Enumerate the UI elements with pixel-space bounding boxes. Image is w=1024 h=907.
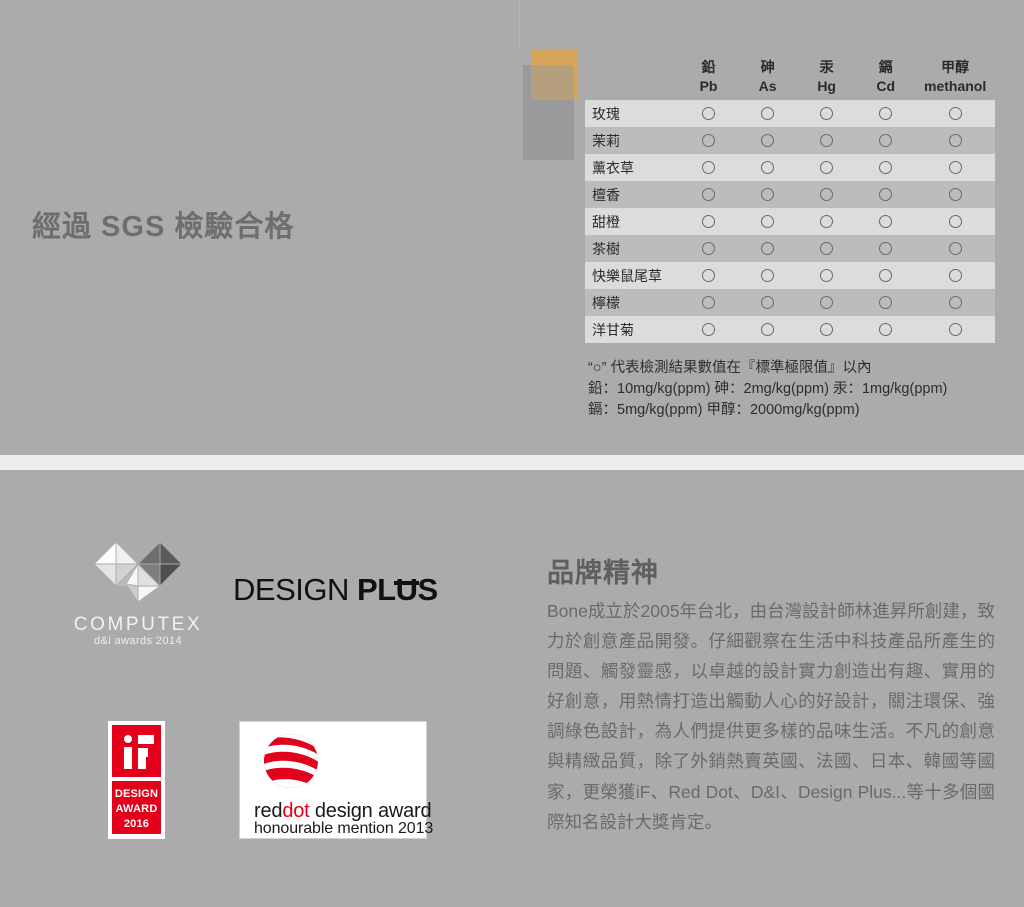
pass-circle-icon: [761, 242, 774, 255]
pass-circle-icon: [879, 134, 892, 147]
pass-circle-icon: [820, 134, 833, 147]
pass-circle-icon: [761, 134, 774, 147]
reddot-word-dot: dot: [282, 800, 309, 822]
brand-spirit-body: Bone成立於2005年台北，由台灣設計師林進昇所創建，致力於創意產品開發。仔細…: [547, 596, 995, 837]
table-cell-pass-mark: [915, 269, 995, 282]
if-i-dot-icon: [124, 735, 132, 743]
design-plus-crossbar: [394, 581, 420, 585]
column-header-cd-cn: 鎘: [856, 58, 915, 77]
table-cell-pass-mark: [915, 323, 995, 336]
pass-circle-icon: [702, 323, 715, 336]
table-cell-pass-mark: [856, 107, 915, 120]
if-caption-line-2: AWARD: [112, 802, 161, 817]
pass-circle-icon: [949, 242, 962, 255]
table-cell-pass-mark: [915, 296, 995, 309]
table-cell-pass-mark: [679, 134, 738, 147]
design-plus-part-design: DESIGN: [233, 572, 357, 607]
column-header-as-cn: 砷: [738, 58, 797, 77]
pass-circle-icon: [702, 269, 715, 282]
pass-circle-icon: [879, 161, 892, 174]
if-design-award-logo: DESIGN AWARD 2016: [108, 721, 165, 839]
table-cell-pass-mark: [738, 134, 797, 147]
computex-di-awards-logo: COMPUTEX d&i awards 2014: [68, 532, 208, 647]
if-f-top-bar-icon: [138, 735, 154, 744]
table-cell-pass-mark: [797, 188, 856, 201]
table-row-label: 茉莉: [585, 131, 679, 151]
column-header-methanol: 甲醇 methanol: [915, 58, 995, 96]
pass-circle-icon: [820, 215, 833, 228]
table-cell-pass-mark: [797, 107, 856, 120]
pass-circle-icon: [949, 269, 962, 282]
table-cell-pass-mark: [797, 161, 856, 174]
column-header-hg: 汞 Hg: [797, 58, 856, 96]
column-header-as-en: As: [738, 77, 797, 96]
table-cell-pass-mark: [915, 242, 995, 255]
table-cell-pass-mark: [856, 242, 915, 255]
design-plus-wordmark: DESIGN PLUS: [233, 572, 433, 608]
pass-circle-icon: [702, 161, 715, 174]
pass-circle-icon: [949, 188, 962, 201]
reddot-word-rest: design award: [310, 800, 432, 822]
table-cell-pass-mark: [679, 323, 738, 336]
pass-circle-icon: [820, 296, 833, 309]
sgs-footnotes: “○” 代表檢測結果數值在『標準極限值』以內 鉛：10mg/kg(ppm) 砷：…: [588, 358, 1008, 421]
table-row: 洋甘菊: [585, 316, 995, 343]
column-header-pb: 鉛 Pb: [679, 58, 738, 96]
pass-circle-icon: [761, 296, 774, 309]
table-cell-pass-mark: [797, 269, 856, 282]
table-cell-pass-mark: [915, 215, 995, 228]
table-cell-pass-mark: [797, 323, 856, 336]
column-header-pb-cn: 鉛: [679, 58, 738, 77]
table-row-label: 檸檬: [585, 293, 679, 313]
table-body: 玫瑰茉莉薰衣草檀香甜橙茶樹快樂鼠尾草檸檬洋甘菊: [585, 100, 995, 343]
table-cell-pass-mark: [856, 134, 915, 147]
pass-circle-icon: [761, 323, 774, 336]
table-cell-pass-mark: [797, 296, 856, 309]
table-cell-pass-mark: [915, 134, 995, 147]
reddot-word-red: red: [254, 800, 282, 822]
table-row-label: 玫瑰: [585, 104, 679, 124]
pass-circle-icon: [879, 188, 892, 201]
table-cell-pass-mark: [856, 161, 915, 174]
pass-circle-icon: [879, 215, 892, 228]
if-monogram-block: [112, 725, 161, 777]
table-cell-pass-mark: [856, 188, 915, 201]
table-cell-pass-mark: [679, 161, 738, 174]
brand-spirit-title: 品牌精神: [547, 551, 659, 590]
table-cell-pass-mark: [679, 242, 738, 255]
pass-circle-icon: [879, 296, 892, 309]
pass-circle-icon: [820, 242, 833, 255]
pass-circle-icon: [761, 215, 774, 228]
column-header-pb-en: Pb: [679, 77, 738, 96]
table-cell-pass-mark: [915, 107, 995, 120]
pass-circle-icon: [879, 323, 892, 336]
table-cell-pass-mark: [915, 188, 995, 201]
pass-circle-icon: [949, 296, 962, 309]
table-cell-pass-mark: [856, 296, 915, 309]
product-info-page: 經過 SGS 檢驗合格 鉛 Pb 砷 As 汞 Hg 鎘 Cd: [0, 0, 1024, 907]
table-row-label: 快樂鼠尾草: [585, 266, 679, 286]
table-header-row: 鉛 Pb 砷 As 汞 Hg 鎘 Cd 甲醇 methanol: [585, 44, 995, 100]
table-cell-pass-mark: [679, 188, 738, 201]
footnote-line-2: 鉛：10mg/kg(ppm) 砷：2mg/kg(ppm) 汞：1mg/kg(pp…: [588, 379, 1008, 400]
table-cell-pass-mark: [856, 215, 915, 228]
if-caption-line-3: 2016: [112, 817, 161, 832]
design-plus-part-pl: PL: [357, 572, 396, 607]
table-cell-pass-mark: [856, 323, 915, 336]
table-cell-pass-mark: [738, 107, 797, 120]
column-header-cd-en: Cd: [856, 77, 915, 96]
table-row: 薰衣草: [585, 154, 995, 181]
pass-circle-icon: [820, 188, 833, 201]
sgs-heading: 經過 SGS 檢驗合格: [32, 203, 294, 245]
pass-circle-icon: [879, 269, 892, 282]
if-f-mid-bar-icon: [138, 748, 148, 757]
computex-subtitle: d&i awards 2014: [68, 635, 208, 647]
pass-circle-icon: [761, 269, 774, 282]
panel-edge-divider: [519, 0, 520, 48]
if-award-caption: DESIGN AWARD 2016: [112, 781, 161, 834]
table-row: 茉莉: [585, 127, 995, 154]
computex-wordmark: COMPUTEX: [68, 614, 208, 636]
table-cell-pass-mark: [738, 323, 797, 336]
pass-circle-icon: [949, 107, 962, 120]
design-plus-logo: DESIGN PLUS: [233, 572, 433, 612]
if-i-stem-icon: [124, 747, 132, 769]
pass-circle-icon: [702, 134, 715, 147]
column-header-methanol-en: methanol: [915, 77, 995, 96]
pass-circle-icon: [820, 269, 833, 282]
table-cell-pass-mark: [738, 161, 797, 174]
pass-circle-icon: [949, 215, 962, 228]
sgs-test-table: 鉛 Pb 砷 As 汞 Hg 鎘 Cd 甲醇 methanol 玫瑰茉莉薰衣草檀…: [585, 44, 995, 343]
table-cell-pass-mark: [738, 296, 797, 309]
pass-circle-icon: [702, 107, 715, 120]
footnote-line-3: 鎘：5mg/kg(ppm) 甲醇：2000mg/kg(ppm): [588, 400, 1008, 421]
table-row-label: 甜橙: [585, 212, 679, 232]
column-header-cd: 鎘 Cd: [856, 58, 915, 96]
table-row-label: 檀香: [585, 185, 679, 205]
table-row-label: 薰衣草: [585, 158, 679, 178]
pass-circle-icon: [949, 323, 962, 336]
reddot-design-award-logo: reddot design award honourable mention 2…: [239, 721, 427, 839]
table-row: 檸檬: [585, 289, 995, 316]
table-cell-pass-mark: [738, 242, 797, 255]
pass-circle-icon: [879, 242, 892, 255]
pass-circle-icon: [702, 296, 715, 309]
pass-circle-icon: [879, 107, 892, 120]
pass-circle-icon: [702, 188, 715, 201]
design-plus-part-s: S: [417, 572, 437, 607]
column-header-as: 砷 As: [738, 58, 797, 96]
pass-circle-icon: [820, 323, 833, 336]
column-header-hg-en: Hg: [797, 77, 856, 96]
pass-circle-icon: [761, 188, 774, 201]
column-header-hg-cn: 汞: [797, 58, 856, 77]
pass-circle-icon: [820, 107, 833, 120]
table-cell-pass-mark: [738, 215, 797, 228]
reddot-mention-line: honourable mention 2013: [254, 820, 433, 838]
table-cell-pass-mark: [679, 107, 738, 120]
if-caption-line-1: DESIGN: [112, 787, 161, 802]
table-row-label: 洋甘菊: [585, 320, 679, 340]
design-plus-part-u: U: [396, 572, 418, 608]
table-cell-pass-mark: [679, 215, 738, 228]
bottle-cap-shadow: [531, 65, 574, 100]
table-cell-pass-mark: [679, 296, 738, 309]
pass-circle-icon: [820, 161, 833, 174]
reddot-sphere-icon: [262, 732, 320, 790]
table-row: 茶樹: [585, 235, 995, 262]
pass-circle-icon: [949, 134, 962, 147]
table-row: 甜橙: [585, 208, 995, 235]
pass-circle-icon: [761, 161, 774, 174]
section-divider: [0, 455, 1024, 470]
essential-oil-bottle-thumbnail: [523, 50, 579, 160]
table-cell-pass-mark: [797, 242, 856, 255]
table-cell-pass-mark: [738, 269, 797, 282]
footnote-line-1: “○” 代表檢測結果數值在『標準極限值』以內: [588, 358, 1008, 379]
table-cell-pass-mark: [915, 161, 995, 174]
pass-circle-icon: [949, 161, 962, 174]
table-cell-pass-mark: [797, 134, 856, 147]
pass-circle-icon: [702, 215, 715, 228]
pass-circle-icon: [702, 242, 715, 255]
table-row-label: 茶樹: [585, 239, 679, 259]
design-plus-u-glyph: U: [396, 572, 418, 607]
table-cell-pass-mark: [738, 188, 797, 201]
table-cell-pass-mark: [856, 269, 915, 282]
pass-circle-icon: [761, 107, 774, 120]
table-row: 檀香: [585, 181, 995, 208]
column-header-methanol-cn: 甲醇: [915, 58, 995, 77]
table-cell-pass-mark: [797, 215, 856, 228]
table-row: 快樂鼠尾草: [585, 262, 995, 289]
computex-polygon-mark: [76, 532, 201, 612]
table-row: 玫瑰: [585, 100, 995, 127]
table-cell-pass-mark: [679, 269, 738, 282]
